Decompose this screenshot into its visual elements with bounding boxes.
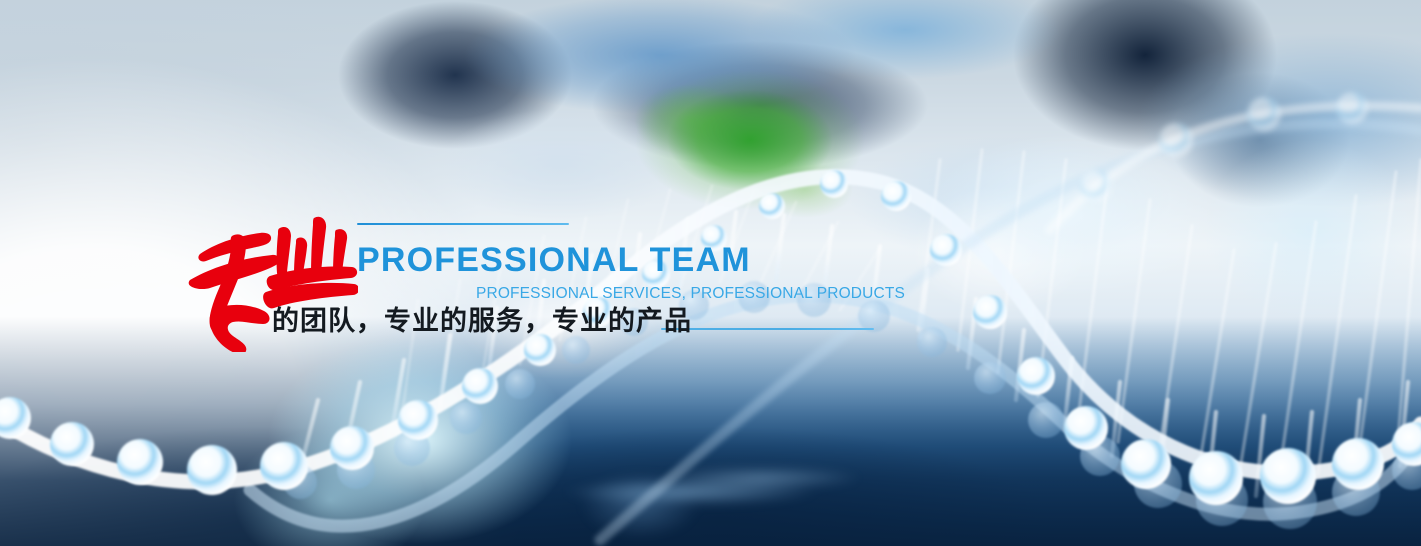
headline-professional-team: PROFESSIONAL TEAM (357, 243, 751, 277)
headline-top-rule (357, 223, 569, 225)
banner-text-block: PROFESSIONAL TEAM PROFESSIONAL SERVICES,… (0, 0, 1421, 546)
tagline-bottom-rule (661, 328, 874, 330)
subline-professional-services: PROFESSIONAL SERVICES, PROFESSIONAL PROD… (476, 286, 905, 302)
chinese-tagline: 的团队，专业的服务，专业的产品 (272, 307, 692, 337)
promotional-banner: PROFESSIONAL TEAM PROFESSIONAL SERVICES,… (0, 0, 1421, 546)
